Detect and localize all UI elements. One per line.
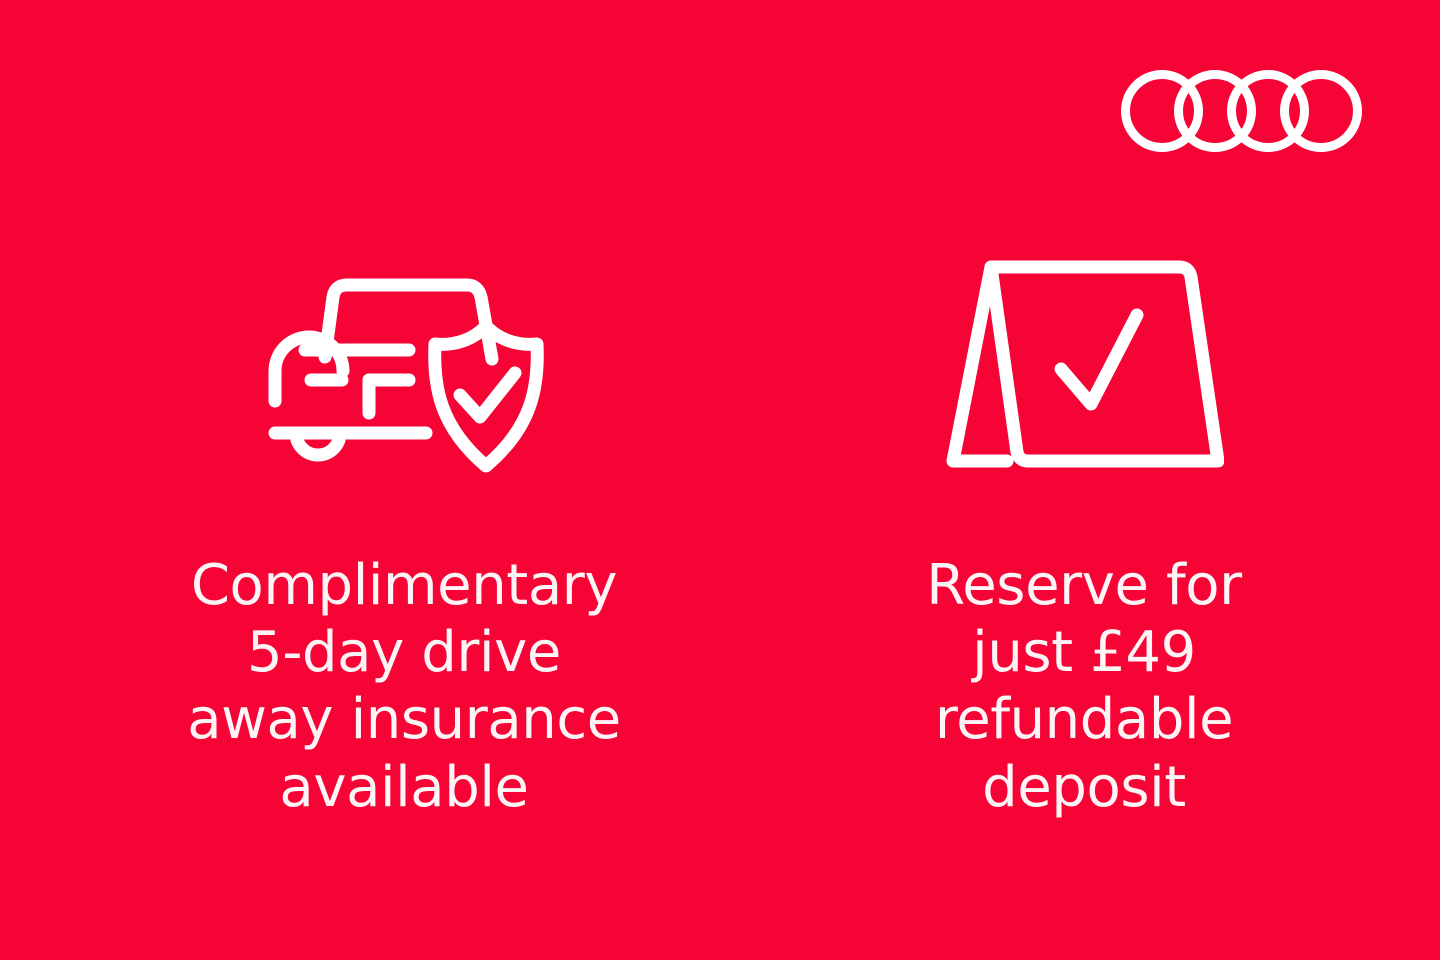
folded-card-check-icon — [944, 247, 1224, 483]
feature-insurance-icon-wrap — [249, 240, 559, 490]
shield-check-icon — [460, 373, 515, 417]
feature-deposit-text: Reserve for just £49 refundable deposit — [926, 552, 1242, 821]
feature-deposit: Reserve for just £49 refundable deposit — [808, 240, 1360, 821]
card-check-icon — [1061, 315, 1137, 404]
feature-insurance: Complimentary 5-day drive away insurance… — [100, 240, 708, 821]
feature-deposit-icon-wrap — [944, 240, 1224, 490]
audi-rings-logo — [1120, 64, 1366, 158]
feature-insurance-text: Complimentary 5-day drive away insurance… — [187, 552, 621, 821]
car-shield-icon — [249, 247, 559, 483]
promo-banner: Complimentary 5-day drive away insurance… — [0, 0, 1440, 960]
audi-rings-icon — [1120, 64, 1366, 158]
